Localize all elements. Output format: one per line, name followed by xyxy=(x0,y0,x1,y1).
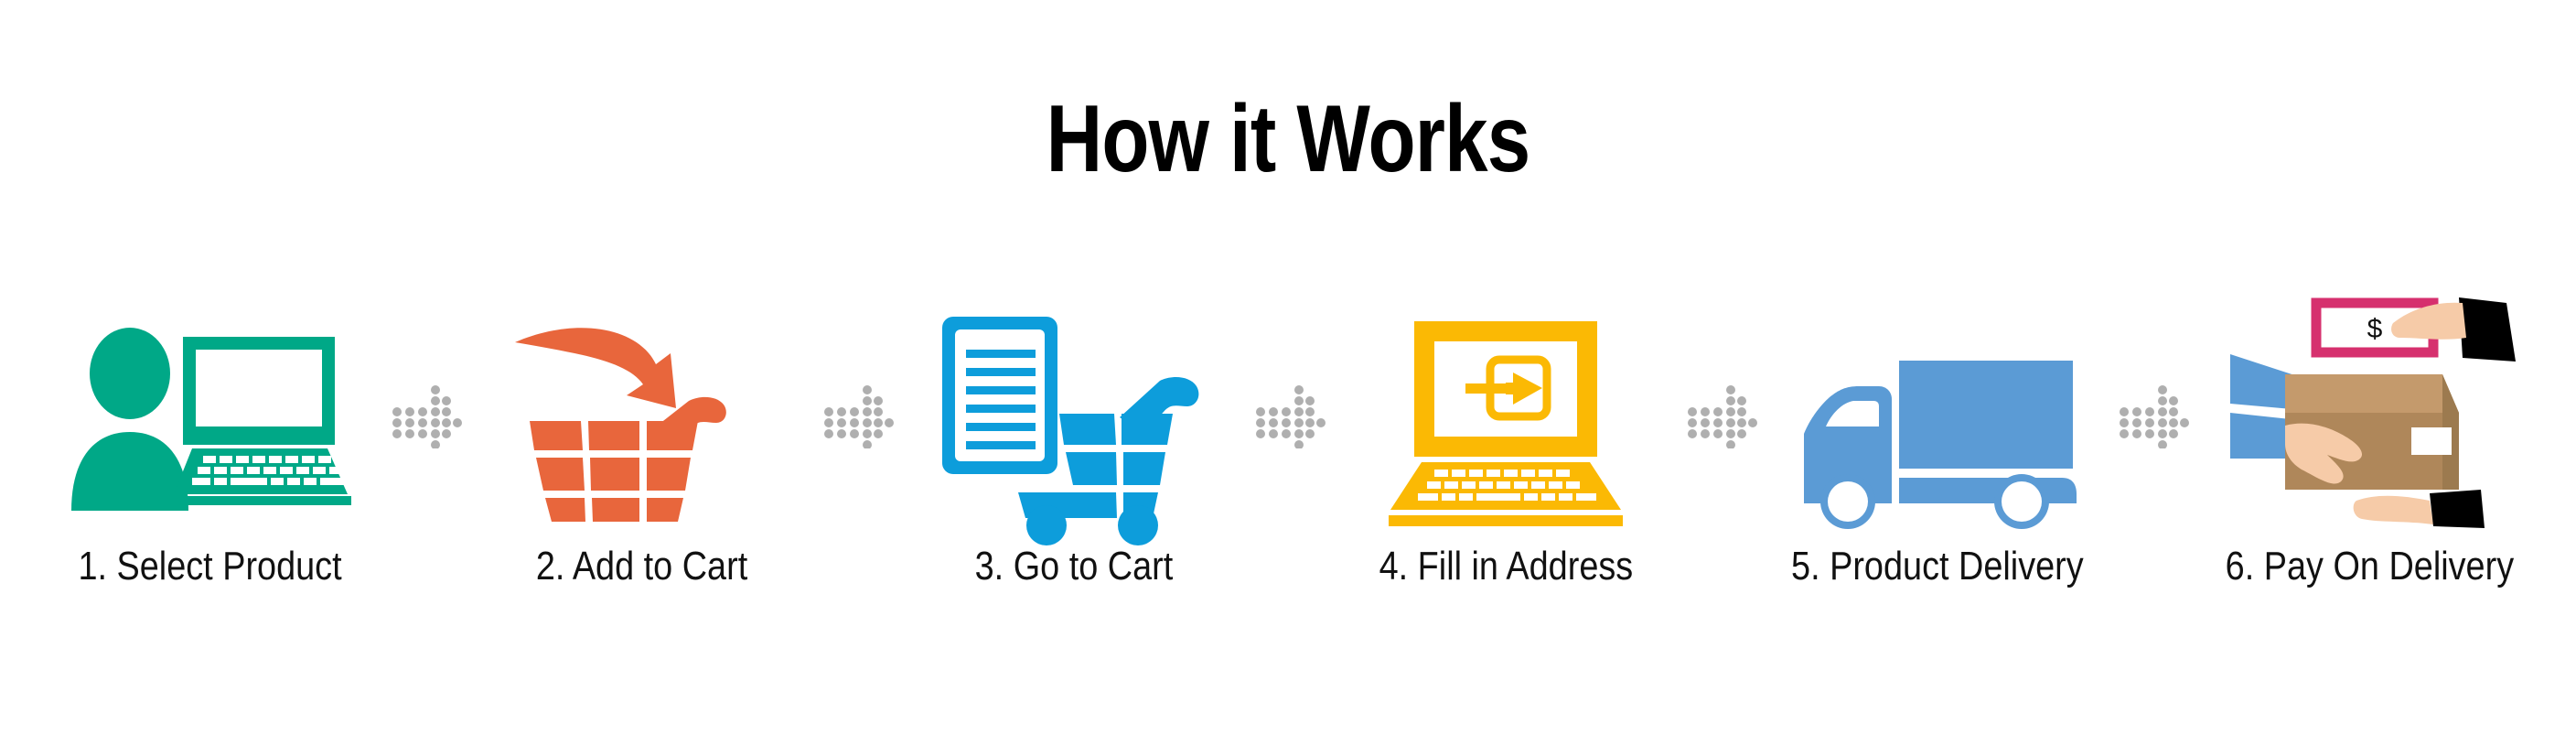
dotted-arrow-right-icon-5 xyxy=(2112,302,2195,531)
steps-row: 1. Select Product xyxy=(37,302,2543,668)
dotted-arrow-right-icon-3 xyxy=(1249,302,1331,531)
step-6-pay-on-delivery[interactable]: $ xyxy=(2195,302,2543,589)
step-4-fill-in-address[interactable]: 4. Fill in Address xyxy=(1332,302,1680,589)
cart-with-arrow-icon xyxy=(487,302,798,531)
step-3-label: 3. Go to Cart xyxy=(975,544,1174,589)
step-1-select-product[interactable]: 1. Select Product xyxy=(37,302,384,589)
person-laptop-icon xyxy=(55,302,366,531)
how-it-works-infographic: How it Works xyxy=(0,0,2576,745)
step-4-label: 4. Fill in Address xyxy=(1379,544,1633,589)
page-title: How it Works xyxy=(231,92,2344,187)
step-5-product-delivery[interactable]: 5. Product Delivery xyxy=(1764,302,2111,589)
laptop-login-icon xyxy=(1350,302,1661,531)
banknote-dollar-symbol: $ xyxy=(2367,314,2383,344)
dotted-arrow-right-icon-4 xyxy=(1680,302,1763,531)
dotted-arrow-right-icon-2 xyxy=(817,302,899,531)
step-2-label: 2. Add to Cart xyxy=(536,544,747,589)
step-5-label: 5. Product Delivery xyxy=(1791,544,2084,589)
step-6-label: 6. Pay On Delivery xyxy=(2225,544,2513,589)
delivery-truck-icon xyxy=(1782,302,2093,531)
hands-box-money-icon: $ xyxy=(2214,302,2525,531)
step-3-go-to-cart[interactable]: 3. Go to Cart xyxy=(900,302,1248,589)
step-1-label: 1. Select Product xyxy=(79,544,342,589)
step-2-add-to-cart[interactable]: 2. Add to Cart xyxy=(468,302,816,589)
dotted-arrow-right-icon-1 xyxy=(385,302,467,531)
document-cart-icon xyxy=(918,302,1229,531)
